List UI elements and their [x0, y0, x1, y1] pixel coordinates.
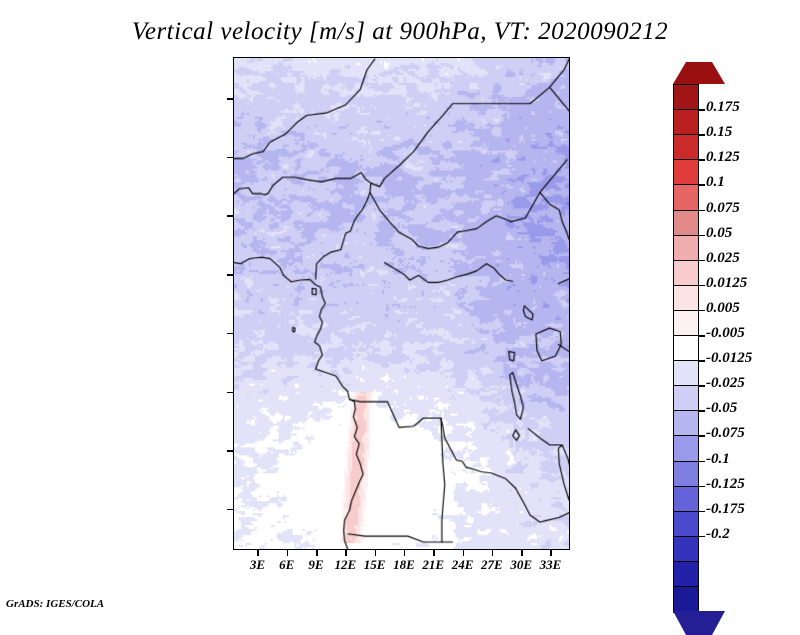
colorbar-band: [673, 159, 699, 186]
colorbar-band: [673, 235, 699, 262]
colorbar-tick-label: 0.075: [706, 200, 740, 217]
latitude-tick-mark: [227, 215, 234, 217]
colorbar-tick-label: 0.025: [706, 250, 740, 267]
colorbar-tick-label: -0.075: [706, 425, 745, 442]
colorbar-band: [673, 561, 699, 588]
longitude-tick-mark: [492, 549, 494, 556]
latitude-tick-mark: [227, 274, 234, 276]
colorbar-tick-label: 0.15: [706, 124, 732, 141]
colorbar-band: [673, 385, 699, 412]
colorbar-tick-label: 0.175: [706, 99, 740, 116]
colorbar-tick-mark: [699, 159, 705, 161]
latitude-tick-mark: [227, 392, 234, 394]
colorbar-tick-mark: [699, 109, 705, 111]
colorbar-band: [673, 310, 699, 337]
latitude-tick-mark: [227, 450, 234, 452]
page-title: Vertical velocity [m/s] at 900hPa, VT: 2…: [0, 18, 800, 46]
colorbar-band: [673, 84, 699, 111]
longitude-tick-mark: [404, 549, 406, 556]
colorbar-tick-mark: [699, 486, 705, 488]
colorbar-tick-mark: [699, 410, 705, 412]
colorbar-tick-mark: [699, 235, 705, 237]
colorbar-tick-label: -0.0125: [706, 350, 752, 367]
longitude-tick-mark: [257, 549, 259, 556]
colorbar-tick-label: -0.05: [706, 400, 737, 417]
latitude-tick-mark: [227, 509, 234, 511]
colorbar-band: [673, 134, 699, 161]
colorbar-band: [673, 486, 699, 513]
colorbar-tick-mark: [699, 184, 705, 186]
colorbar-band: [673, 210, 699, 237]
colorbar-extend-min-arrow: [673, 611, 725, 635]
colorbar-tick-mark: [699, 360, 705, 362]
colorbar-tick-label: -0.175: [706, 501, 745, 518]
colorbar-tick-label: -0.005: [706, 325, 745, 342]
colorbar-band: [673, 586, 699, 613]
longitude-tick-label: 33E: [520, 557, 580, 573]
colorbar-band: [673, 410, 699, 437]
latitude-tick-mark: [227, 98, 234, 100]
colorbar-band: [673, 285, 699, 312]
colorbar-band: [673, 360, 699, 387]
colorbar-band: [673, 184, 699, 211]
latitude-tick-mark: [227, 157, 234, 159]
colorbar-tick-mark: [699, 335, 705, 337]
colorbar-band: [673, 461, 699, 488]
colorbar-tick-mark: [699, 210, 705, 212]
longitude-tick-mark: [521, 549, 523, 556]
colorbar-tick-label: -0.1: [706, 451, 730, 468]
colorbar-tick-mark: [699, 285, 705, 287]
colorbar-tick-mark: [699, 260, 705, 262]
colorbar-tick-mark: [699, 536, 705, 538]
colorbar-tick-label: -0.2: [706, 526, 730, 543]
colorbar-tick-label: 0.1: [706, 174, 725, 191]
longitude-tick-mark: [345, 549, 347, 556]
colorbar-band: [673, 536, 699, 563]
map-plot-area: [233, 57, 570, 550]
colorbar-tick-label: 0.05: [706, 225, 732, 242]
longitude-tick-mark: [463, 549, 465, 556]
colorbar-extend-max-arrow: [673, 62, 725, 84]
colorbar-tick-mark: [699, 461, 705, 463]
colorbar-tick-mark: [699, 134, 705, 136]
colorbar-tick-label: -0.125: [706, 476, 745, 493]
colorbar-tick-label: 0.005: [706, 300, 740, 317]
latitude-tick-mark: [227, 333, 234, 335]
colorbar-band: [673, 335, 699, 362]
colorbar-tick-label: 0.0125: [706, 275, 747, 292]
longitude-tick-mark: [287, 549, 289, 556]
colorbar-tick-mark: [699, 435, 705, 437]
longitude-tick-mark: [316, 549, 318, 556]
colorbar-tick-label: -0.025: [706, 375, 745, 392]
longitude-tick-mark: [550, 549, 552, 556]
colorbar-tick-mark: [699, 310, 705, 312]
colorbar-tick-label: 0.125: [706, 149, 740, 166]
colorbar-tick-mark: [699, 511, 705, 513]
colorbar-tick-mark: [699, 385, 705, 387]
colorbar-band: [673, 260, 699, 287]
longitude-tick-mark: [375, 549, 377, 556]
colorbar-band: [673, 511, 699, 538]
attribution-label: GrADS: IGES/COLA: [6, 598, 104, 610]
colorbar-band: [673, 435, 699, 462]
longitude-tick-mark: [433, 549, 435, 556]
colorbar-band: [673, 109, 699, 136]
coastline-overlay: [234, 58, 569, 549]
